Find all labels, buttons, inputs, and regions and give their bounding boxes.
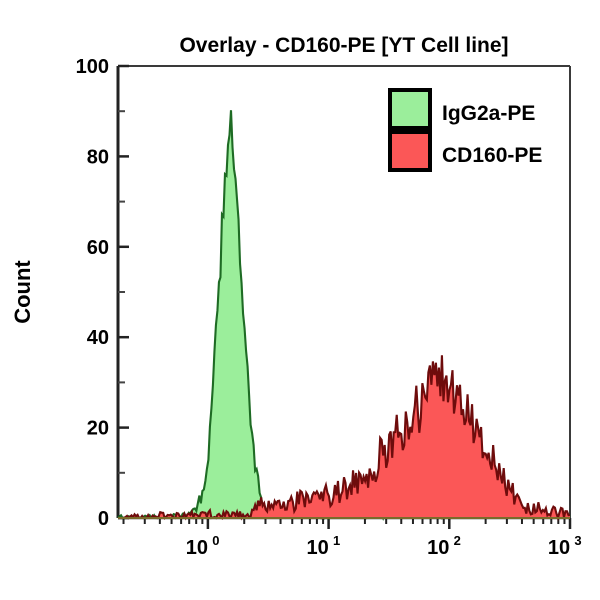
chart-title: Overlay - CD160-PE [YT Cell line] xyxy=(179,34,508,57)
x-tick-label-exponent: 1 xyxy=(333,533,340,548)
x-tick-label-base: 10 xyxy=(548,537,570,559)
legend[interactable]: IgG2a-PECD160-PE xyxy=(387,86,569,170)
x-tick-label-base: 10 xyxy=(306,537,328,559)
y-tick-label: 60 xyxy=(87,237,109,259)
x-tick-label-base: 10 xyxy=(186,537,208,559)
legend-swatch-1[interactable] xyxy=(390,90,430,128)
x-tick-label-base: 10 xyxy=(427,537,449,559)
y-tick-label: 80 xyxy=(87,146,109,168)
legend-label-1: IgG2a-PE xyxy=(442,102,535,125)
x-tick-label-exponent: 3 xyxy=(574,533,581,548)
y-tick-label: 20 xyxy=(87,418,109,440)
flow-cytometry-overlay-figure: Overlay - CD160-PE [YT Cell line] 020406… xyxy=(0,0,600,600)
legend-swatch-2[interactable] xyxy=(390,132,430,170)
y-axis-title: Count xyxy=(10,260,35,324)
y-tick-label: 0 xyxy=(98,508,109,530)
x-tick-label-exponent: 2 xyxy=(454,533,461,548)
histogram-chart: Overlay - CD160-PE [YT Cell line] 020406… xyxy=(0,0,600,600)
x-tick-label-exponent: 0 xyxy=(212,533,219,548)
legend-label-2: CD160-PE xyxy=(442,144,542,167)
y-tick-label: 40 xyxy=(87,327,109,349)
y-tick-label: 100 xyxy=(76,56,109,78)
